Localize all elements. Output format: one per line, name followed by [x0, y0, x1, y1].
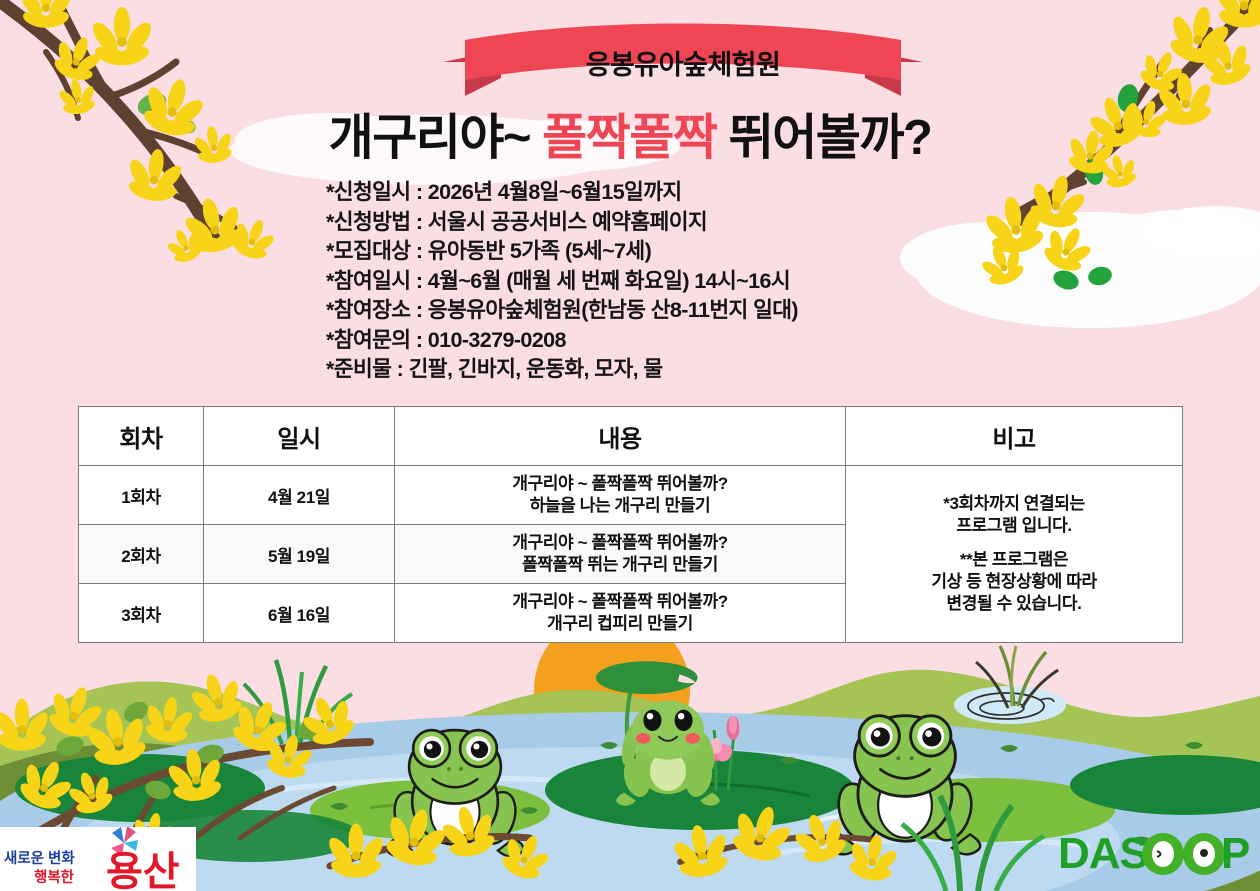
cell-content-3: 개구리야 ~ 폴짝폴짝 뛰어볼까? 개구리 컵피리 만들기	[395, 584, 846, 643]
title-part-2: 뛰어볼까?	[717, 111, 932, 165]
table-body: 1회차 4월 21일 개구리야 ~ 폴짝폴짝 뛰어볼까? 하늘을 나는 개구리 …	[79, 466, 1183, 643]
cell-note: *3회차까지 연결되는 프로그램 입니다. **본 프로그램은 기상 등 현장상…	[846, 466, 1183, 643]
note-line-3: **본 프로그램은	[960, 550, 1068, 569]
info-line-contact: *참여문의 : 010-3279-0208	[326, 326, 798, 356]
reeds-right	[954, 646, 1066, 724]
dasoop-eye-right	[1183, 833, 1225, 875]
note-gap	[846, 537, 1182, 549]
table-header-session: 회차	[79, 407, 204, 466]
yongsan-slogan-line2: 행복한	[34, 869, 75, 886]
title-part-1: 개구리야~	[329, 111, 543, 165]
yongsan-slogan-line1: 새로운 변화	[4, 850, 75, 867]
cell-date-1: 4월 21일	[204, 466, 395, 525]
poster-root: 응봉유아숲체험원 개구리야~ 폴짝폴짝 뛰어볼까? *신청일시 : 2026년 …	[0, 0, 1260, 891]
info-line-supplies: *준비물 : 긴팔, 긴바지, 운동화, 모자, 물	[326, 355, 798, 385]
cell-session-2: 2회차	[79, 525, 204, 584]
note-line-2: 프로그램 입니다.	[956, 516, 1071, 535]
content-line-2b: 폴짝폴짝 뛰는 개구리 만들기	[395, 554, 845, 576]
water-ripple-3	[820, 807, 1005, 820]
info-line-schedule: *참여일시 : 4월~6월 (매월 세 번째 화요일) 14시~16시	[326, 267, 798, 297]
cell-session-1: 1회차	[79, 466, 204, 525]
frog-right	[830, 716, 980, 855]
water-ripple-1	[120, 778, 600, 820]
yongsan-logo: 새로운 변화 행복한 용산	[0, 827, 196, 891]
dasoop-logo: DAS P	[1058, 826, 1258, 878]
content-line-3b: 개구리 컵피리 만들기	[395, 613, 845, 635]
content-line-1b: 하늘을 나는 개구리 만들기	[395, 495, 845, 517]
note-line-5: 변경될 수 있습니다.	[947, 594, 1082, 613]
info-list: *신청일시 : 2026년 4월8일~6월15일까지 *신청방법 : 서울시 공…	[326, 178, 798, 385]
table-row: 1회차 4월 21일 개구리야 ~ 폴짝폴짝 뛰어볼까? 하늘을 나는 개구리 …	[79, 466, 1183, 525]
table-header-date: 일시	[204, 407, 395, 466]
yongsan-name: 용산	[106, 850, 180, 891]
cell-date-3: 6월 16일	[204, 584, 395, 643]
title-highlight: 폴짝폴짝	[542, 111, 716, 165]
cloud-right-upper	[1145, 206, 1260, 258]
dasoop-text-after: P	[1221, 829, 1250, 878]
dasoop-logo-graphic: DAS P	[1058, 826, 1258, 878]
info-line-target: *모집대상 : 유아동반 5가족 (5세~7세)	[326, 237, 798, 267]
lotus-flower	[697, 716, 739, 790]
yongsan-logo-graphic: 새로운 변화 행복한 용산	[0, 827, 196, 891]
schedule-table: 회차 일시 내용 비고 1회차 4월 21일 개구리야 ~ 폴짝폴짝 뛰어볼까?…	[78, 406, 1183, 643]
frog-middle	[596, 661, 720, 806]
info-line-apply-date: *신청일시 : 2026년 4월8일~6월15일까지	[326, 178, 798, 208]
cell-content-1: 개구리야 ~ 폴짝폴짝 뛰어볼까? 하늘을 나는 개구리 만들기	[395, 466, 846, 525]
page-title: 개구리야~ 폴짝폴짝 뛰어볼까?	[0, 112, 1260, 166]
title-block: 개구리야~ 폴짝폴짝 뛰어볼까?	[0, 112, 1260, 166]
table-header-row: 회차 일시 내용 비고	[79, 407, 1183, 466]
content-line-2a: 개구리야 ~ 폴짝폴짝 뛰어볼까?	[512, 533, 727, 552]
dasoop-text-before: DAS	[1058, 829, 1148, 878]
ribbon-label: 응봉유아숲체험원	[443, 43, 923, 82]
grass-bottom-right	[902, 796, 1044, 891]
frog-left	[387, 730, 524, 856]
table-header-content: 내용	[395, 407, 846, 466]
info-line-apply-method: *신청방법 : 서울시 공공서비스 예약홈페이지	[326, 208, 798, 238]
water-ripple-2	[760, 839, 1090, 856]
note-line-4: 기상 등 현장상황에 따라	[931, 572, 1096, 591]
cloud-right	[900, 210, 1260, 328]
branch-bottom-center	[325, 797, 903, 888]
note-line-1: *3회차까지 연결되는	[943, 494, 1085, 513]
cell-session-3: 3회차	[79, 584, 204, 643]
cell-content-2: 개구리야 ~ 폴짝폴짝 뛰어볼까? 폴짝폴짝 뛰는 개구리 만들기	[395, 525, 846, 584]
dasoop-eye-left	[1142, 833, 1184, 875]
reeds-left	[244, 660, 352, 746]
content-line-3a: 개구리야 ~ 폴짝폴짝 뛰어볼까?	[512, 592, 727, 611]
table-header-note: 비고	[846, 407, 1183, 466]
table-head: 회차 일시 내용 비고	[79, 407, 1183, 466]
pond-water-inner	[80, 747, 1120, 891]
ribbon-banner: 응봉유아숲체험원	[443, 22, 923, 100]
content-line-1a: 개구리야 ~ 폴짝폴짝 뛰어볼까?	[512, 474, 727, 493]
info-line-location: *참여장소 : 응봉유아숲체험원(한남동 산8-11번지 일대)	[326, 296, 798, 326]
cell-date-2: 5월 19일	[204, 525, 395, 584]
